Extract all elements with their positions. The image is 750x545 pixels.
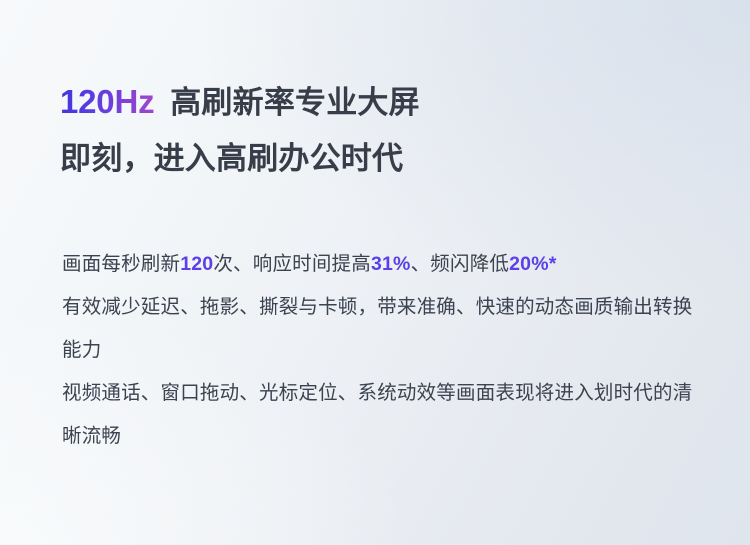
footnote-asterisk: * (549, 253, 557, 275)
spec-value-refresh: 120 (180, 253, 213, 275)
spec-seg-1: 画面每秒刷新 (62, 253, 180, 275)
benefit-paragraph: 有效减少延迟、拖影、撕裂与卡顿，带来准确、快速的动态画质输出转换能力 (62, 286, 702, 372)
body-copy: 画面每秒刷新120次、响应时间提高31%、频闪降低20%* 有效减少延迟、拖影、… (62, 243, 702, 458)
headline-line-1: 120Hz 高刷新率专业大屏 (60, 74, 420, 131)
headline-line-1-rest: 高刷新率专业大屏 (161, 85, 419, 120)
spec-value-flicker: 20% (509, 253, 549, 275)
spec-seg-2: 次、响应时间提高 (213, 253, 371, 275)
scenario-paragraph: 视频通话、窗口拖动、光标定位、系统动效等画面表现将进入划时代的清晰流畅 (62, 372, 702, 458)
promo-banner: 120Hz 高刷新率专业大屏 即刻，进入高刷办公时代 画面每秒刷新120次、响应… (0, 0, 750, 545)
spec-paragraph: 画面每秒刷新120次、响应时间提高31%、频闪降低20%* (62, 243, 702, 286)
page-title: 120Hz 高刷新率专业大屏 即刻，进入高刷办公时代 (60, 74, 420, 187)
spec-value-response: 31% (371, 253, 411, 275)
headline-line-2: 即刻，进入高刷办公时代 (60, 131, 420, 187)
spec-seg-3: 、频闪降低 (411, 253, 510, 275)
refresh-rate-metric: 120Hz (60, 83, 161, 120)
